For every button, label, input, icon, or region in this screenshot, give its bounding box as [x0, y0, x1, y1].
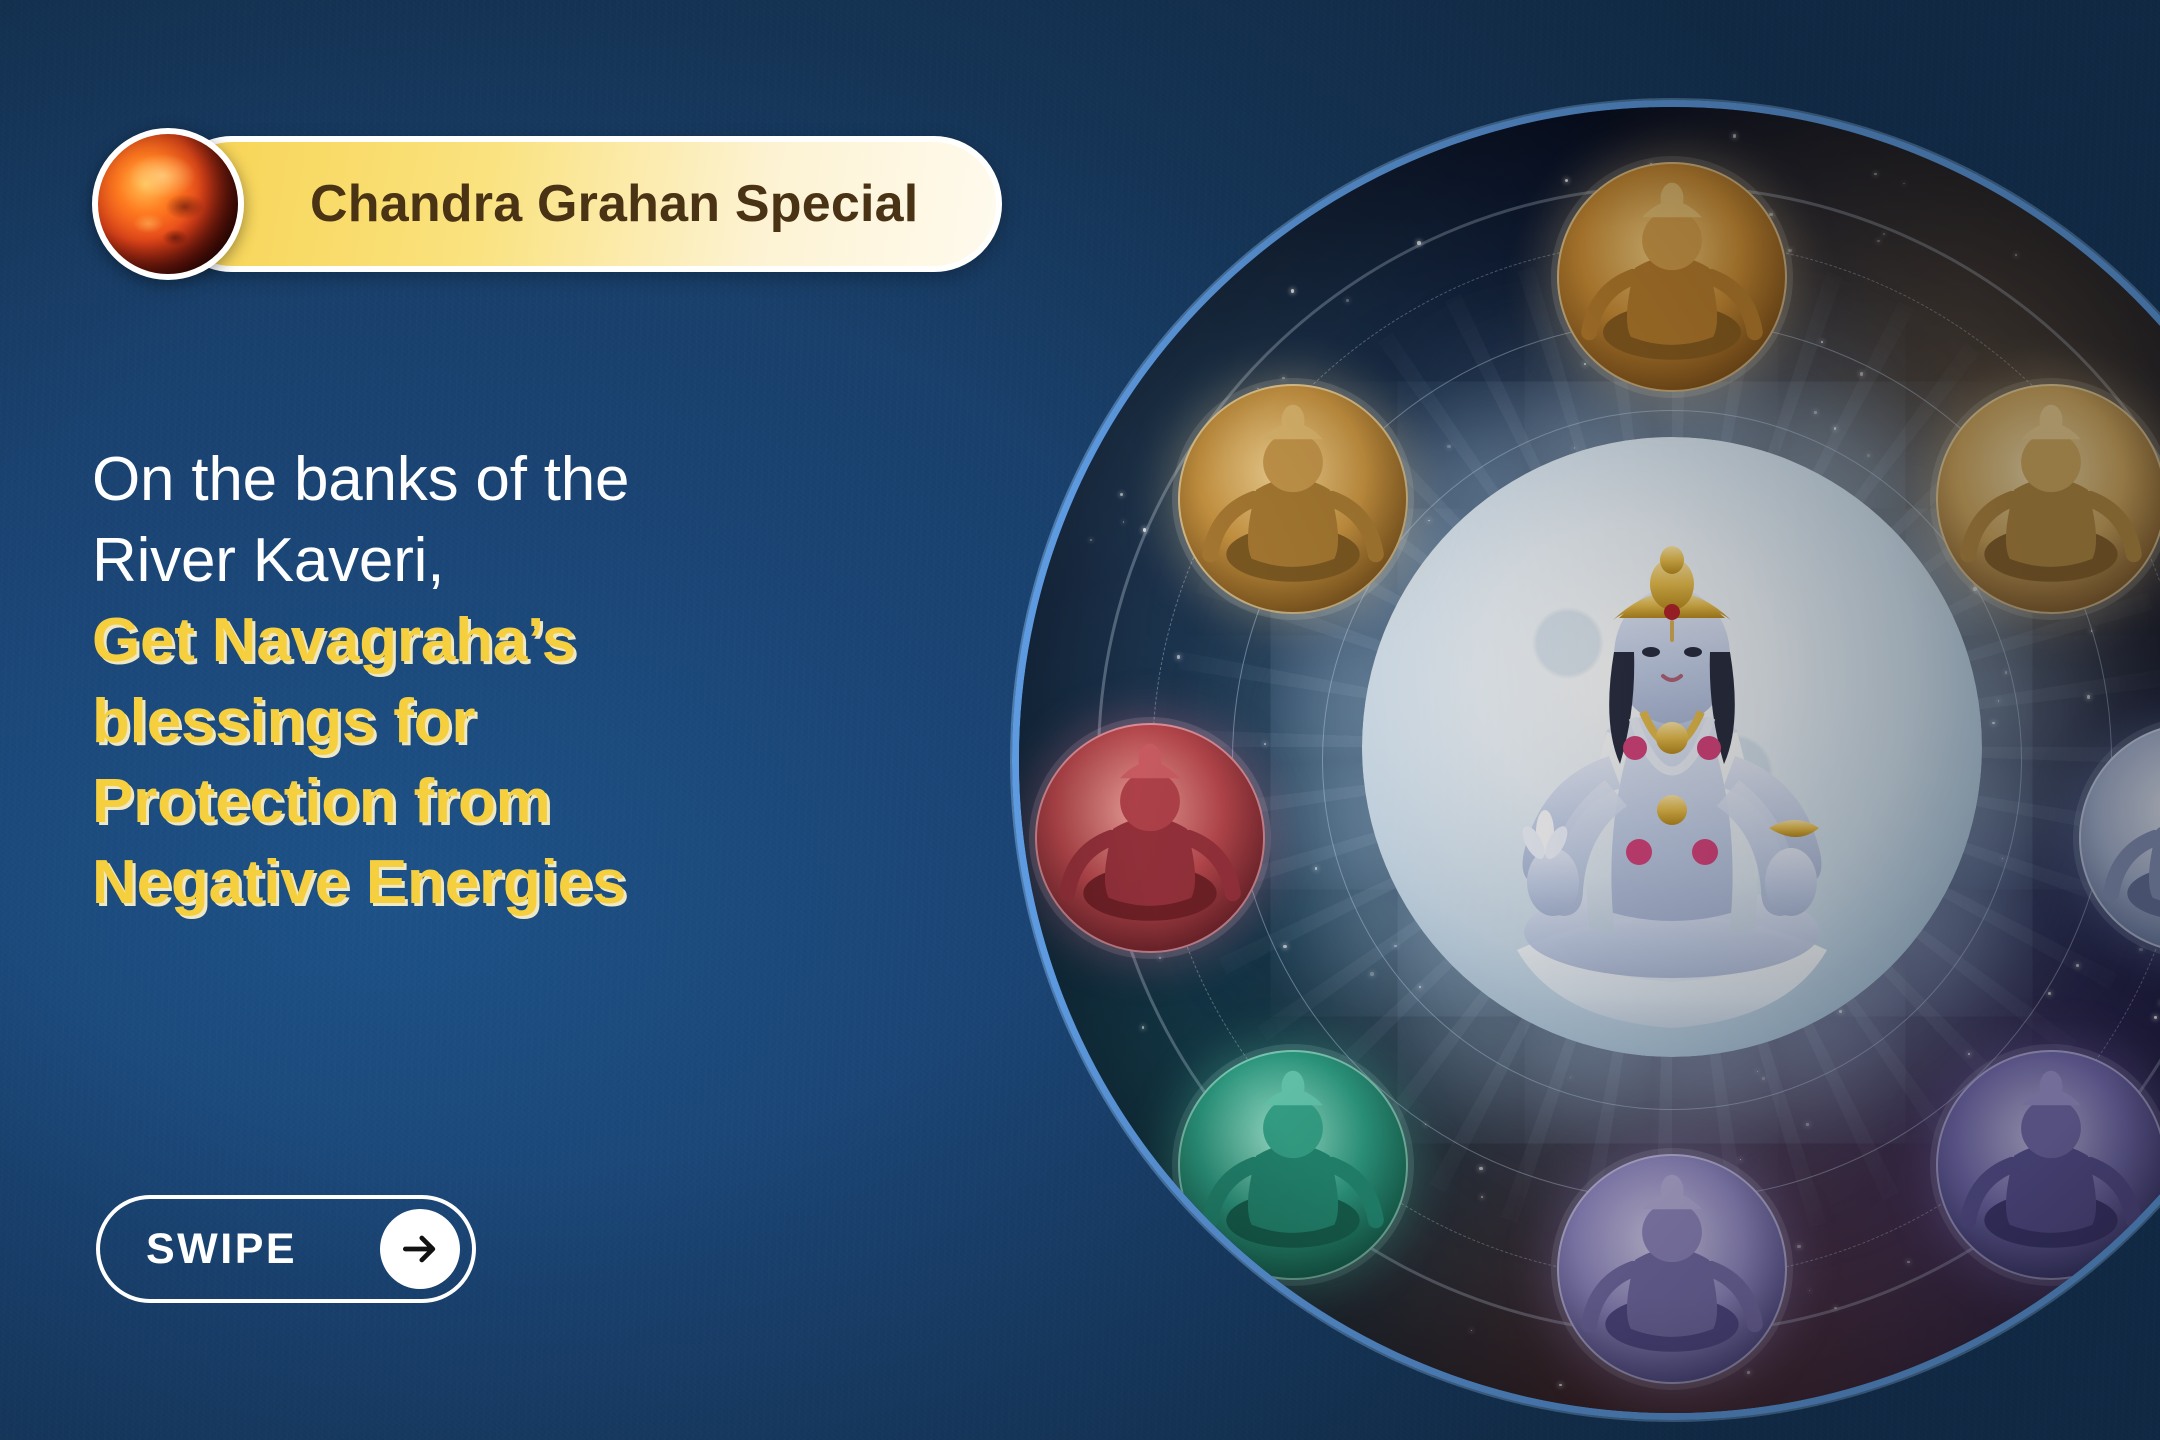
medallion-ketu — [1557, 1154, 1787, 1384]
medallion-shukra — [1936, 384, 2160, 614]
badge-label: Chandra Grahan Special — [310, 174, 918, 234]
navagraha-mandala-artwork — [1012, 100, 2160, 1420]
medallion-surya — [1557, 162, 1787, 392]
medallion-budha — [1178, 1050, 1408, 1280]
swipe-button[interactable]: SWIPE — [96, 1195, 476, 1303]
headline-line-4: blessings for — [92, 682, 972, 763]
headline-line-3: Get Navagraha’s — [92, 601, 972, 682]
medallion-brihaspati — [2079, 723, 2160, 953]
medallion-rahu — [1035, 723, 1265, 953]
headline-line-6: Negative Energies — [92, 843, 972, 924]
swipe-label: SWIPE — [146, 1225, 297, 1274]
headline-block: On the banks of the River Kaveri, Get Na… — [92, 440, 972, 924]
chandra-deity-figure — [1457, 480, 1887, 1040]
medallion-shani — [1936, 1050, 2160, 1280]
badge-pill: Chandra Grahan Special — [164, 136, 1002, 272]
headline-line-1: On the banks of the — [92, 440, 972, 521]
medallion-mangala — [1178, 384, 1408, 614]
red-planet-icon — [92, 128, 244, 280]
headline-line-5: Protection from — [92, 762, 972, 843]
promo-banner: Chandra Grahan Special On the banks of t… — [0, 0, 2160, 1440]
arrow-right-icon[interactable] — [380, 1209, 460, 1289]
headline-line-2: River Kaveri, — [92, 521, 972, 602]
badge: Chandra Grahan Special — [92, 128, 1002, 280]
